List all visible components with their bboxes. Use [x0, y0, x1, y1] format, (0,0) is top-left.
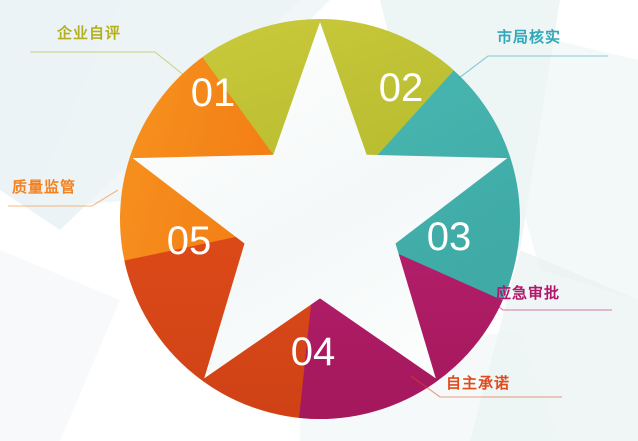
segment-label-05[interactable]: 质量监管: [12, 176, 76, 197]
segment-number-02: 02: [379, 66, 424, 110]
segment-label-03[interactable]: 应急审批: [496, 282, 560, 303]
segment-number-04: 04: [291, 330, 336, 374]
star-cycle-diagram: 0102030405: [0, 0, 638, 441]
segment-label-02[interactable]: 市局核实: [497, 26, 561, 47]
segment-number-01: 01: [191, 71, 236, 115]
segment-number-03: 03: [427, 215, 472, 259]
segment-label-04[interactable]: 自主承诺: [446, 372, 510, 393]
segment-number-05: 05: [167, 219, 212, 263]
diagram-canvas: 0102030405: [0, 0, 638, 441]
segment-label-01[interactable]: 企业自评: [57, 22, 121, 43]
